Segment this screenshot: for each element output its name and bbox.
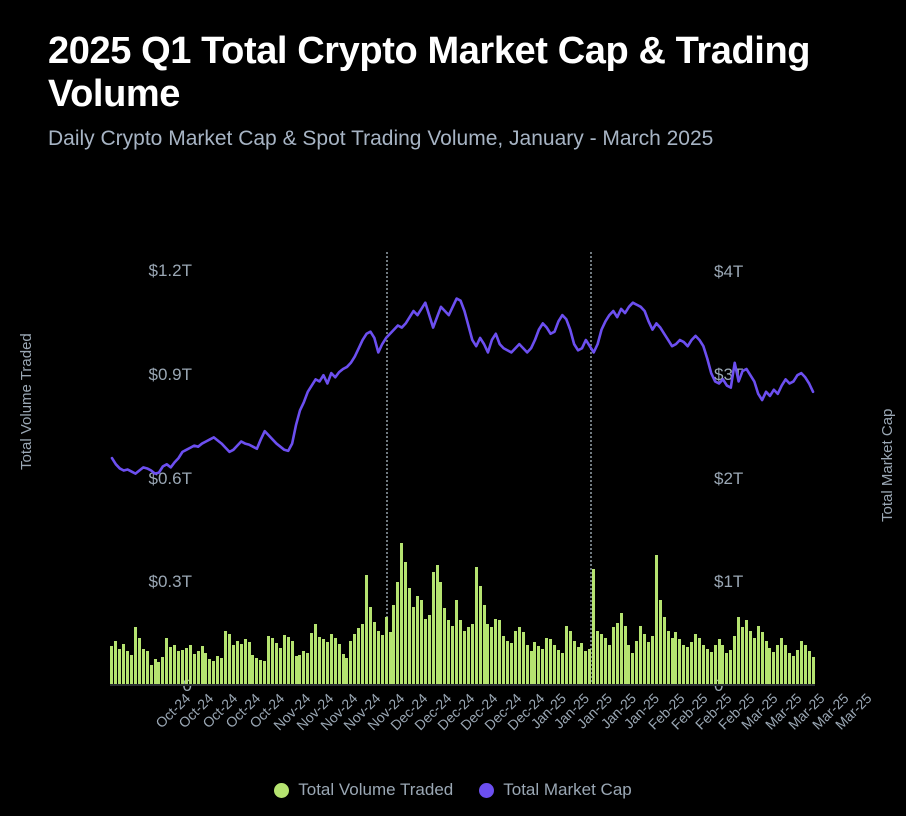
x-axis-ticks: Oct-24Oct-24Oct-24Oct-24Oct-24Nov-24Nov-… (110, 690, 815, 790)
chart-subtitle: Daily Crypto Market Cap & Spot Trading V… (48, 125, 868, 153)
chart-legend: Total Volume TradedTotal Market Cap (0, 780, 906, 800)
plot-area (110, 254, 815, 686)
market-cap-line (112, 299, 813, 474)
y-axis-right-title: Total Market Cap (879, 409, 896, 522)
market-cap-line-series (110, 254, 815, 686)
y-axis-left-title: Total Volume Traded (18, 333, 35, 470)
legend-item-1[interactable]: Total Market Cap (479, 780, 632, 800)
page-title: 2025 Q1 Total Crypto Market Cap & Tradin… (48, 30, 868, 115)
chart-header: 2025 Q1 Total Crypto Market Cap & Tradin… (48, 30, 868, 153)
legend-dot-icon (274, 783, 289, 798)
legend-label: Total Volume Traded (298, 780, 453, 800)
crypto-market-chart: 2025 Q1 Total Crypto Market Cap & Tradin… (0, 0, 906, 816)
legend-label: Total Market Cap (503, 780, 632, 800)
legend-item-0[interactable]: Total Volume Traded (274, 780, 453, 800)
legend-dot-icon (479, 783, 494, 798)
x-axis-baseline (110, 684, 815, 686)
